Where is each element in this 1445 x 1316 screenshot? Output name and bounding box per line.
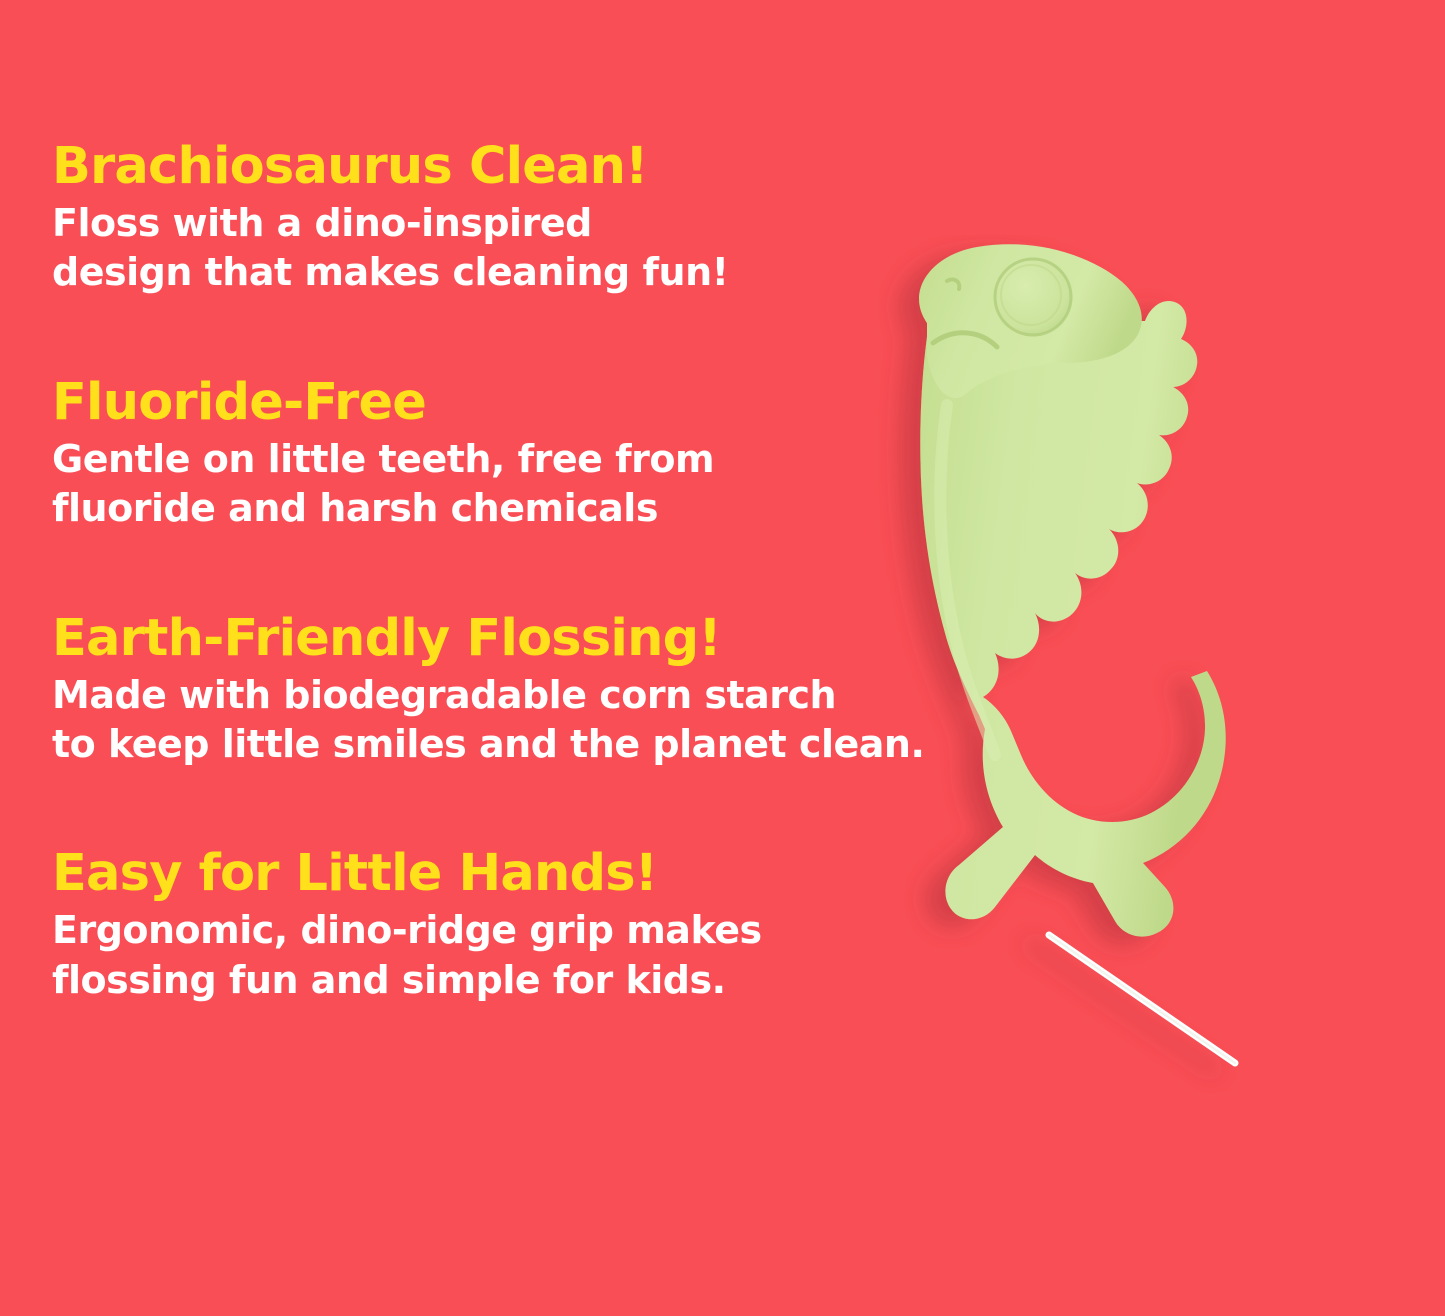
feature-title: Easy for Little Hands!: [52, 847, 912, 900]
feature-title: Fluoride-Free: [52, 376, 912, 429]
feature-description-line: Made with biodegradable corn starch: [52, 671, 912, 720]
feature-description: Floss with a dino-inspired design that m…: [52, 199, 912, 298]
feature-description-line: Gentle on little teeth, free from: [52, 435, 912, 484]
dinosaur-body-group: [919, 244, 1235, 1063]
feature-description: Ergonomic, dino-ridge grip makes flossin…: [52, 906, 912, 1005]
product-feature-poster: Brachiosaurus Clean! Floss with a dino-i…: [0, 0, 1445, 1316]
feature-description: Gentle on little teeth, free from fluori…: [52, 435, 912, 534]
feature-description-line: Ergonomic, dino-ridge grip makes: [52, 906, 912, 955]
product-image-dinosaur-floss-pick: [835, 235, 1355, 1145]
feature-description-line: Floss with a dino-inspired: [52, 199, 912, 248]
feature-item-easy-for-little-hands: Easy for Little Hands! Ergonomic, dino-r…: [52, 847, 912, 1005]
floss-string-highlight: [1049, 935, 1235, 1063]
feature-item-earth-friendly-flossing: Earth-Friendly Flossing! Made with biode…: [52, 612, 912, 770]
feature-description-line: design that makes cleaning fun!: [52, 248, 912, 297]
feature-title: Earth-Friendly Flossing!: [52, 612, 912, 665]
feature-description-line: flossing fun and simple for kids.: [52, 956, 912, 1005]
feature-description: Made with biodegradable corn starch to k…: [52, 671, 912, 770]
feature-item-fluoride-free: Fluoride-Free Gentle on little teeth, fr…: [52, 376, 912, 534]
feature-list: Brachiosaurus Clean! Floss with a dino-i…: [52, 140, 912, 1005]
feature-description-line: fluoride and harsh chemicals: [52, 484, 912, 533]
feature-description-line: to keep little smiles and the planet cle…: [52, 720, 912, 769]
feature-title: Brachiosaurus Clean!: [52, 140, 912, 193]
feature-item-brachiosaurus-clean: Brachiosaurus Clean! Floss with a dino-i…: [52, 140, 912, 298]
